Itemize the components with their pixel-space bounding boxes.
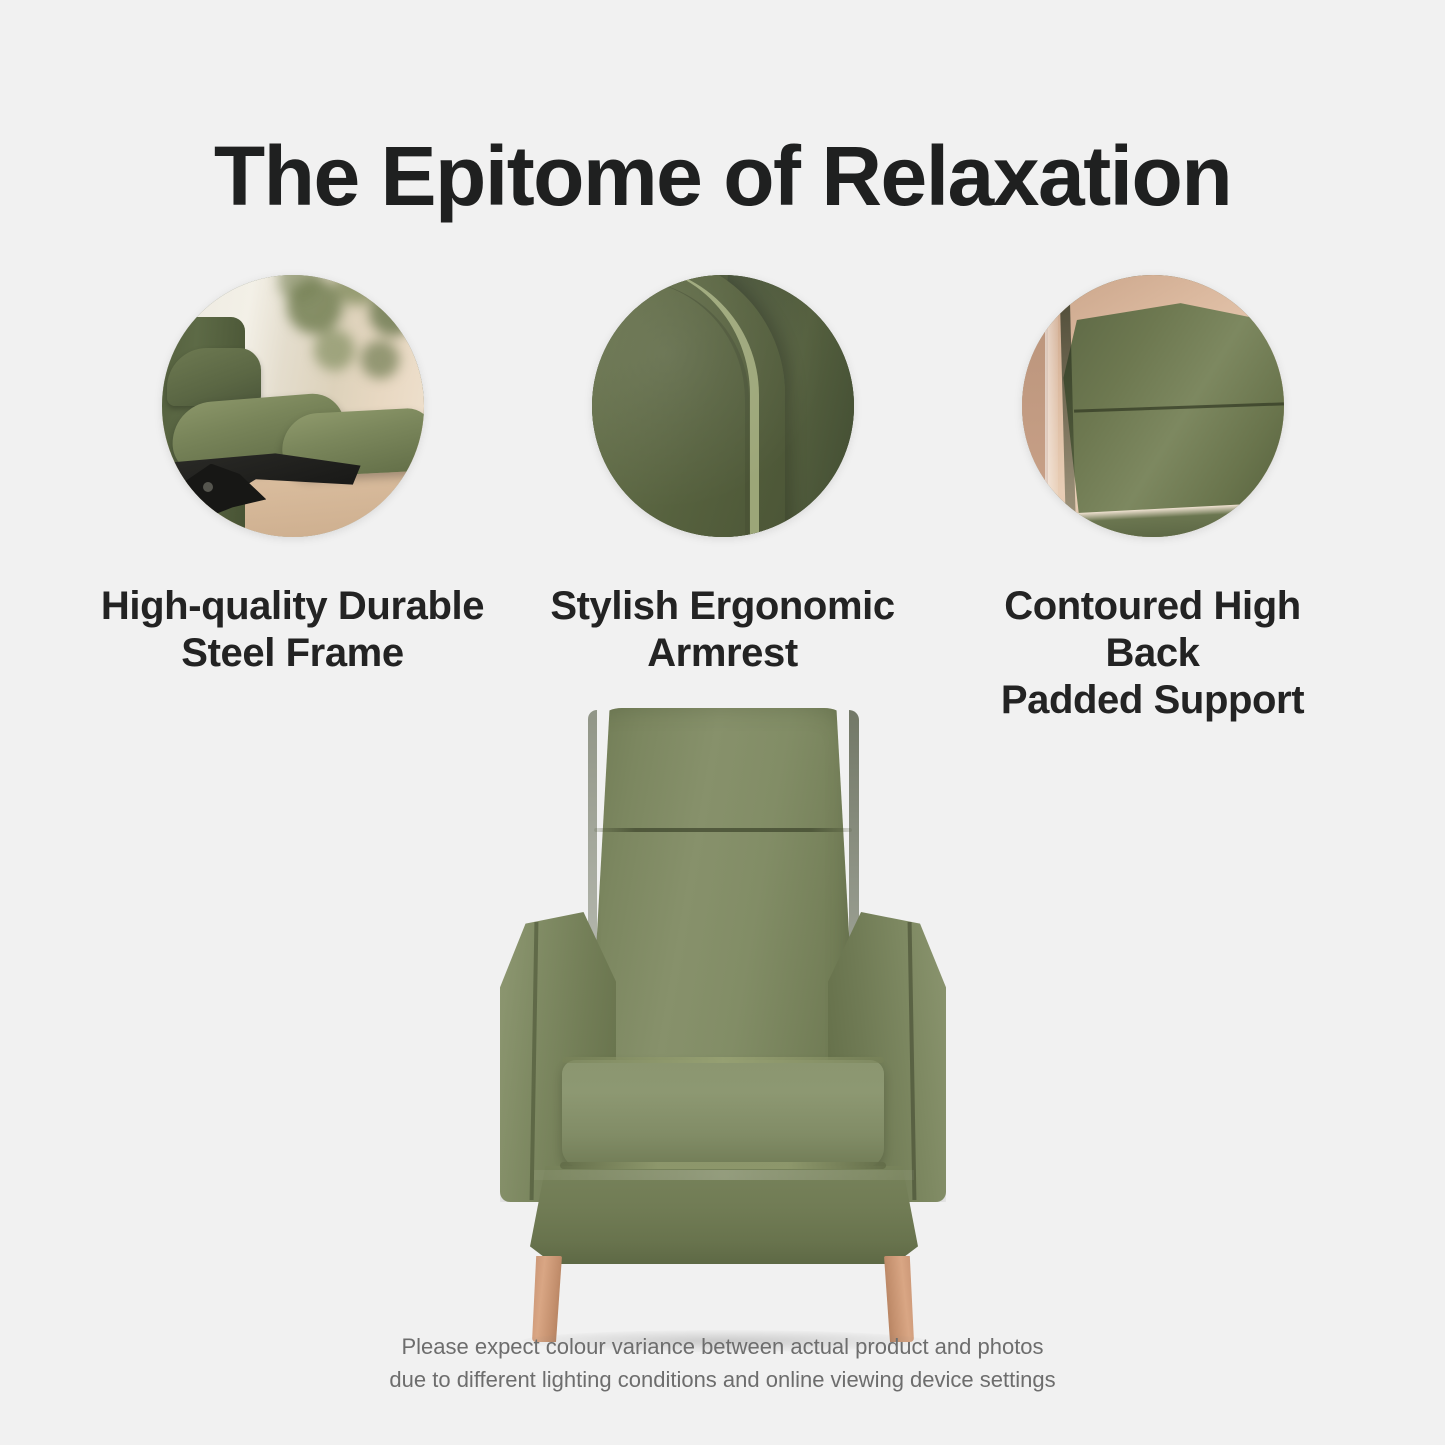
backrest-seam xyxy=(594,828,852,832)
high-back-cushion-closeup-image xyxy=(1022,275,1284,537)
thumb-scene-1 xyxy=(162,275,424,537)
seat-cushion-top-piping xyxy=(562,1057,884,1063)
product-feature-infographic: The Epitome of Relaxation xyxy=(0,0,1445,1445)
chair-arm xyxy=(167,348,261,406)
feature-high-back-support: Contoured High Back Padded Support xyxy=(955,275,1350,724)
feature-label: Contoured High Back Padded Support xyxy=(955,583,1350,724)
feature-label: High-quality Durable Steel Frame xyxy=(101,583,484,677)
seat-cushion-bottom-piping xyxy=(560,1162,886,1169)
feature-label: Stylish Ergonomic Armrest xyxy=(550,583,894,677)
feature-label-line1: High-quality Durable xyxy=(101,583,484,630)
chair-base xyxy=(530,1166,918,1264)
feature-label-line1: Stylish Ergonomic xyxy=(550,583,894,630)
feature-label-line2: Armrest xyxy=(550,630,894,677)
seat-cushion xyxy=(562,1060,884,1168)
disclaimer-text: Please expect colour variance between ac… xyxy=(0,1330,1445,1396)
highlight-sheen xyxy=(592,275,854,537)
thumb-scene-3 xyxy=(1022,275,1284,537)
armrest-closeup-image xyxy=(592,275,854,537)
feature-ergonomic-armrest: Stylish Ergonomic Armrest xyxy=(525,275,920,677)
wall-dark-edge xyxy=(1022,275,1048,537)
thumb-scene-2 xyxy=(592,275,854,537)
feature-steel-frame: High-quality Durable Steel Frame xyxy=(95,275,490,677)
page-title: The Epitome of Relaxation xyxy=(0,128,1445,224)
disclaimer-line1: Please expect colour variance between ac… xyxy=(0,1330,1445,1363)
feature-label-line2: Padded Support xyxy=(955,677,1350,724)
wall-light-seam xyxy=(1045,275,1058,537)
feature-row: High-quality Durable Steel Frame Stylish… xyxy=(95,275,1350,724)
chair-base-highlight xyxy=(534,1170,914,1180)
feature-label-line2: Steel Frame xyxy=(101,630,484,677)
recliner-armchair-front-view-image xyxy=(470,700,975,1320)
footrest-steel-frame-closeup-image xyxy=(162,275,424,537)
back-cushion xyxy=(1063,296,1283,537)
disclaimer-line2: due to different lighting conditions and… xyxy=(0,1363,1445,1396)
feature-label-line1: Contoured High Back xyxy=(955,583,1350,677)
